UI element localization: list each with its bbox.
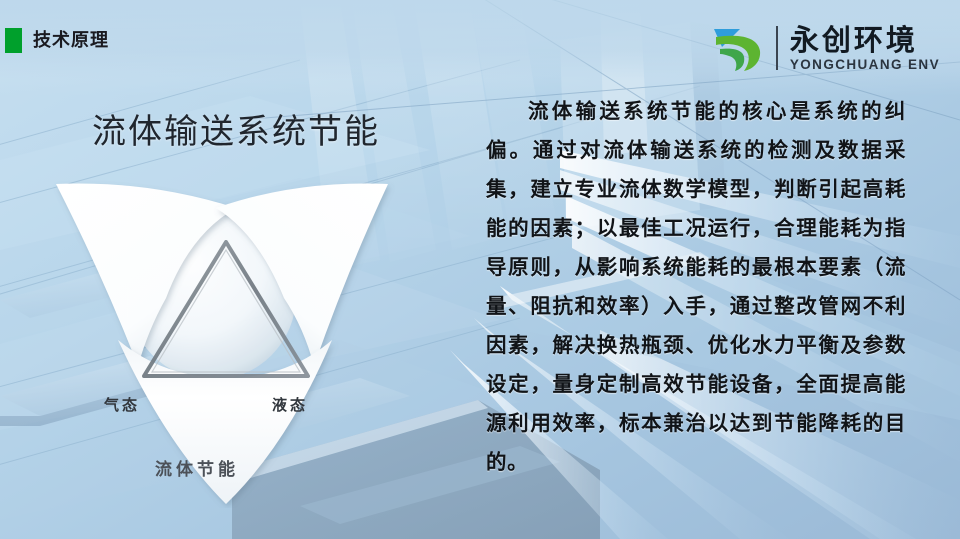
petal-label-liquid: 液态 — [272, 394, 308, 415]
section-title: 技术原理 — [33, 28, 109, 53]
slide-canvas: 技术原理 永创环境 YONGCHUANG ENV 流体输送系统节能 — [0, 0, 960, 539]
green-square-marker — [5, 28, 22, 53]
logo-name-cn: 永创环境 — [790, 25, 940, 56]
company-logo: 永创环境 YONGCHUANG ENV — [710, 22, 940, 74]
petal-label-gas: 气态 — [104, 394, 140, 415]
page-title: 流体输送系统节能 — [92, 104, 380, 153]
fluid-energy-diagram: 气态 液态 气液 混合 流体节能 — [40, 178, 410, 508]
logo-leaf-icon — [710, 23, 770, 73]
logo-name-en: YONGCHUANG ENV — [790, 57, 940, 72]
logo-wordmark: 永创环境 YONGCHUANG ENV — [790, 25, 940, 72]
logo-divider — [776, 26, 778, 70]
diagram-center-label: 流体节能 — [155, 455, 239, 480]
body-paragraph: 流体输送系统节能的核心是系统的纠偏。通过对流体输送系统的检测及数据采集，建立专业… — [486, 92, 906, 482]
